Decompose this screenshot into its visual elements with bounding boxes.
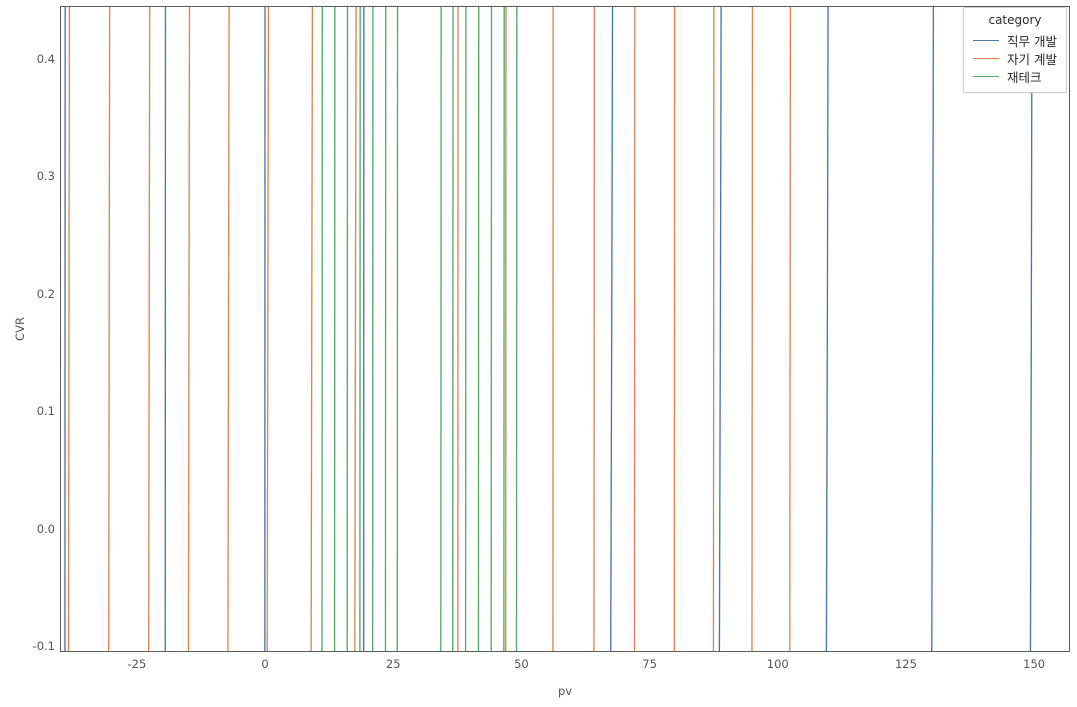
legend-item-label: 직무 개발 [1007, 31, 1057, 50]
contour-level [396, 7, 442, 651]
contour-level [302, 7, 506, 651]
x-axis-label: pv [558, 684, 572, 698]
legend-item-label: 재테크 [1007, 67, 1042, 86]
x-tick-label: 75 [642, 657, 657, 671]
legend-color-swatch [973, 76, 999, 77]
contour-level [319, 7, 520, 651]
plot-axes-frame [60, 6, 1070, 652]
contour-level [345, 7, 494, 651]
contour-series [61, 7, 794, 651]
contour-series [319, 7, 520, 651]
contour-level [65, 7, 938, 651]
contour-level [175, 7, 636, 651]
contour-level [61, 7, 1069, 651]
contour-level [215, 7, 595, 651]
contour-level [384, 7, 454, 651]
legend-item[interactable]: 직무 개발 [973, 31, 1057, 49]
y-tick-label: 0.0 [37, 522, 55, 536]
x-tick-label: 150 [1023, 657, 1045, 671]
y-tick-label: 0.2 [37, 287, 55, 301]
contour-level [61, 7, 1069, 651]
x-tick-label: -25 [127, 657, 146, 671]
legend-item[interactable]: 재테크 [973, 67, 1057, 85]
contour-level [265, 7, 724, 651]
y-tick-label: -0.1 [33, 639, 55, 653]
contour-canvas [61, 7, 1069, 651]
legend-items: 직무 개발자기 계발재테크 [973, 31, 1057, 85]
legend-item-label: 자기 계발 [1007, 49, 1057, 68]
y-axis-label: CVR [13, 317, 27, 341]
contour-level [61, 7, 1069, 651]
x-tick-label: 125 [895, 657, 917, 671]
legend-title: category [973, 13, 1057, 27]
x-tick-label: 25 [386, 657, 401, 671]
legend-item[interactable]: 자기 계발 [973, 49, 1057, 67]
contour-series [61, 7, 1069, 651]
contour-level [61, 7, 1037, 651]
legend-color-swatch [973, 58, 999, 59]
legend-box: category 직무 개발자기 계발재테크 [963, 7, 1067, 93]
x-tick-label: 50 [514, 657, 529, 671]
y-tick-label: 0.4 [37, 52, 55, 66]
contour-level [364, 7, 614, 651]
x-tick-label: 100 [767, 657, 789, 671]
x-tick-label: 0 [261, 657, 268, 671]
legend-color-swatch [973, 40, 999, 41]
contour-level [332, 7, 507, 651]
y-tick-label: 0.3 [37, 169, 55, 183]
contour-level [61, 7, 794, 651]
kde-contour-figure: -250255075100125150 -0.10.00.10.20.30.4 … [0, 0, 1077, 707]
contour-level [61, 7, 1069, 651]
contour-level [358, 7, 481, 651]
y-tick-label: 0.1 [37, 404, 55, 418]
contour-level [255, 7, 553, 651]
